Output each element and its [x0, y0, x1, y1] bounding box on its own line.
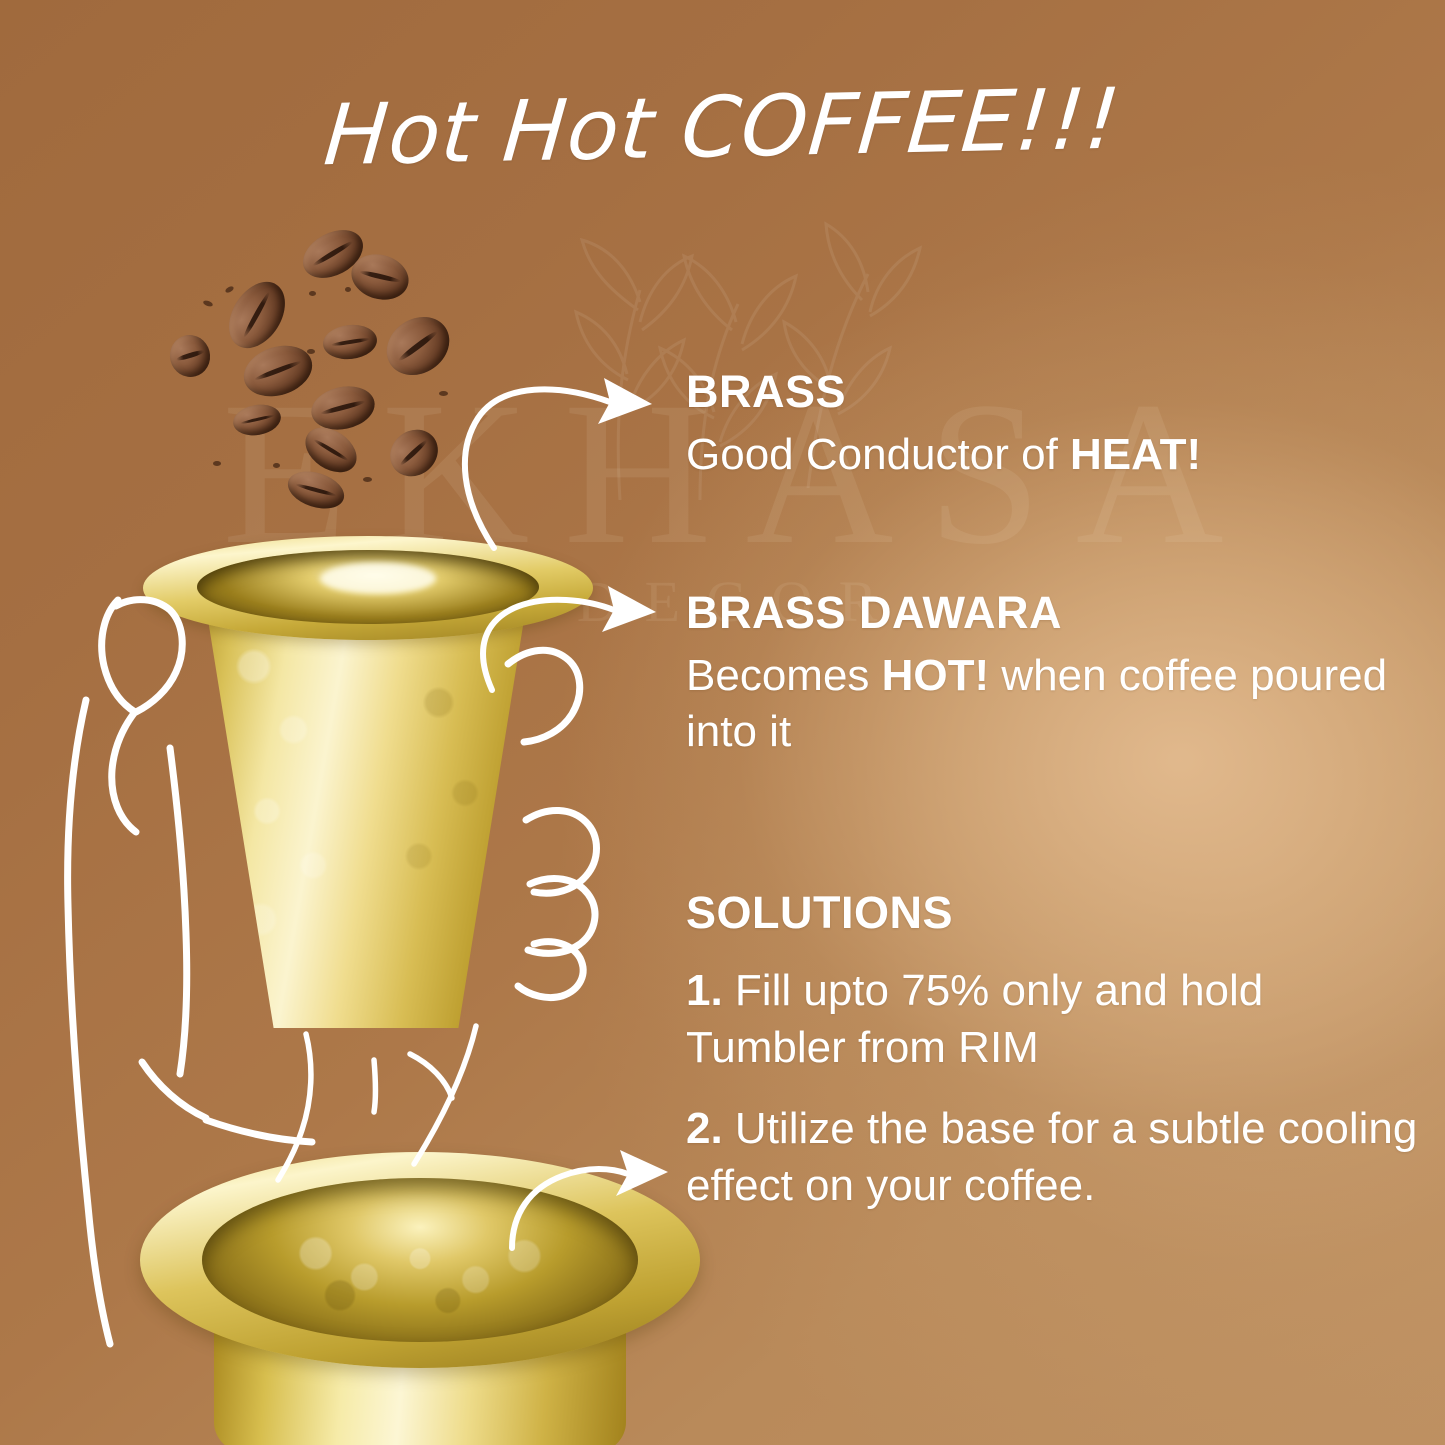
dawara-interior	[202, 1178, 638, 1342]
brass-tumbler	[143, 528, 593, 1028]
infographic-canvas: EKHASA DECOR Hot Hot COFFEE!!!	[0, 0, 1445, 1445]
body-text-plain-lead: Becomes	[686, 651, 882, 700]
arrow-to-brass	[465, 378, 652, 548]
body-text-emphasis: HEAT!	[1070, 430, 1201, 479]
info-block-solutions: SOLUTIONS 1. Fill upto 75% only and hold…	[686, 888, 1426, 1214]
info-block-brass: BRASS Good Conductor of HEAT!	[686, 367, 1426, 483]
info-block-dawara: BRASS DAWARA Becomes HOT! when coffee po…	[686, 588, 1426, 760]
page-title: Hot Hot COFFEE!!!	[0, 63, 1445, 191]
block-heading-brass: BRASS	[686, 367, 1426, 417]
coffee-beans	[175, 215, 475, 520]
block-heading-solutions: SOLUTIONS	[686, 888, 1426, 938]
body-text-emphasis: HOT!	[882, 651, 990, 700]
solution-item: 2. Utilize the base for a subtle cooling…	[686, 1100, 1426, 1214]
solution-item: 1. Fill upto 75% only and hold Tumbler f…	[686, 962, 1426, 1076]
solution-number: 1.	[686, 966, 723, 1015]
tumbler-body	[201, 576, 531, 1028]
block-heading-dawara: BRASS DAWARA	[686, 588, 1426, 638]
body-text-plain: Good Conductor of	[686, 430, 1070, 479]
brass-dawara-bowl	[140, 1152, 700, 1445]
block-body-dawara: Becomes HOT! when coffee poured into it	[686, 648, 1426, 761]
solution-number: 2.	[686, 1104, 723, 1153]
tumbler-interior	[197, 550, 539, 624]
solution-text: Fill upto 75% only and hold Tumbler from…	[686, 966, 1263, 1072]
block-body-brass: Good Conductor of HEAT!	[686, 427, 1426, 483]
solution-text: Utilize the base for a subtle cooling ef…	[686, 1104, 1417, 1210]
